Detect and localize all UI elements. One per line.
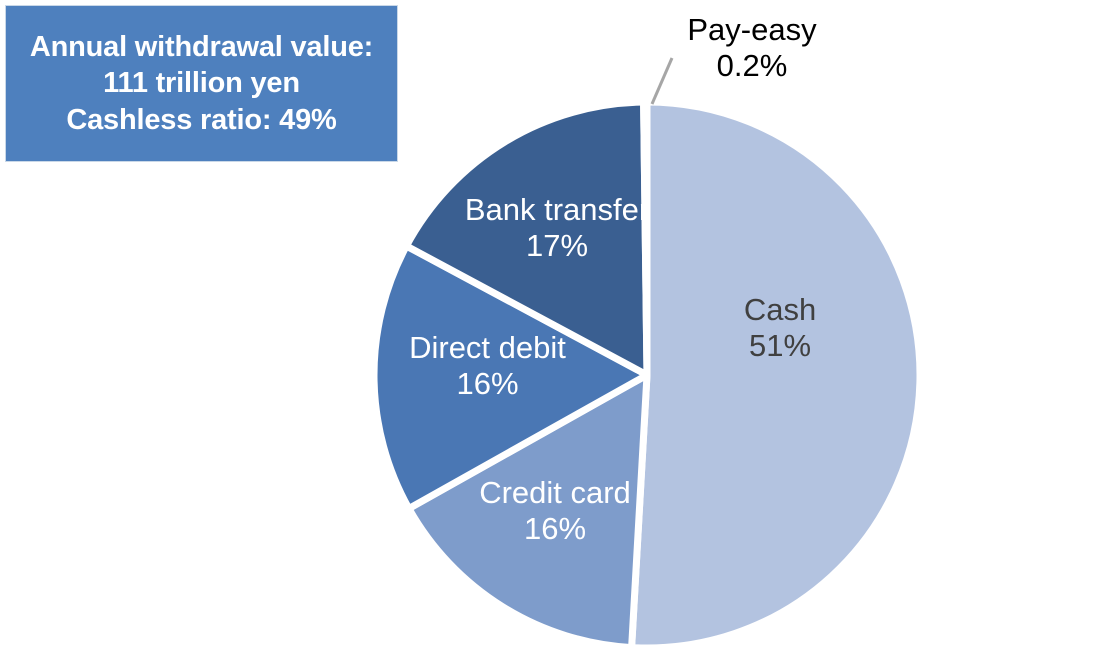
chart-canvas: Annual withdrawal value: 111 trillion ye…: [0, 0, 1120, 668]
pay-easy-leader-line: [652, 58, 672, 104]
pie-chart: [0, 0, 1120, 668]
pie-slice-cash[interactable]: [632, 102, 920, 648]
pie-slice-pay-easy[interactable]: [644, 102, 647, 375]
